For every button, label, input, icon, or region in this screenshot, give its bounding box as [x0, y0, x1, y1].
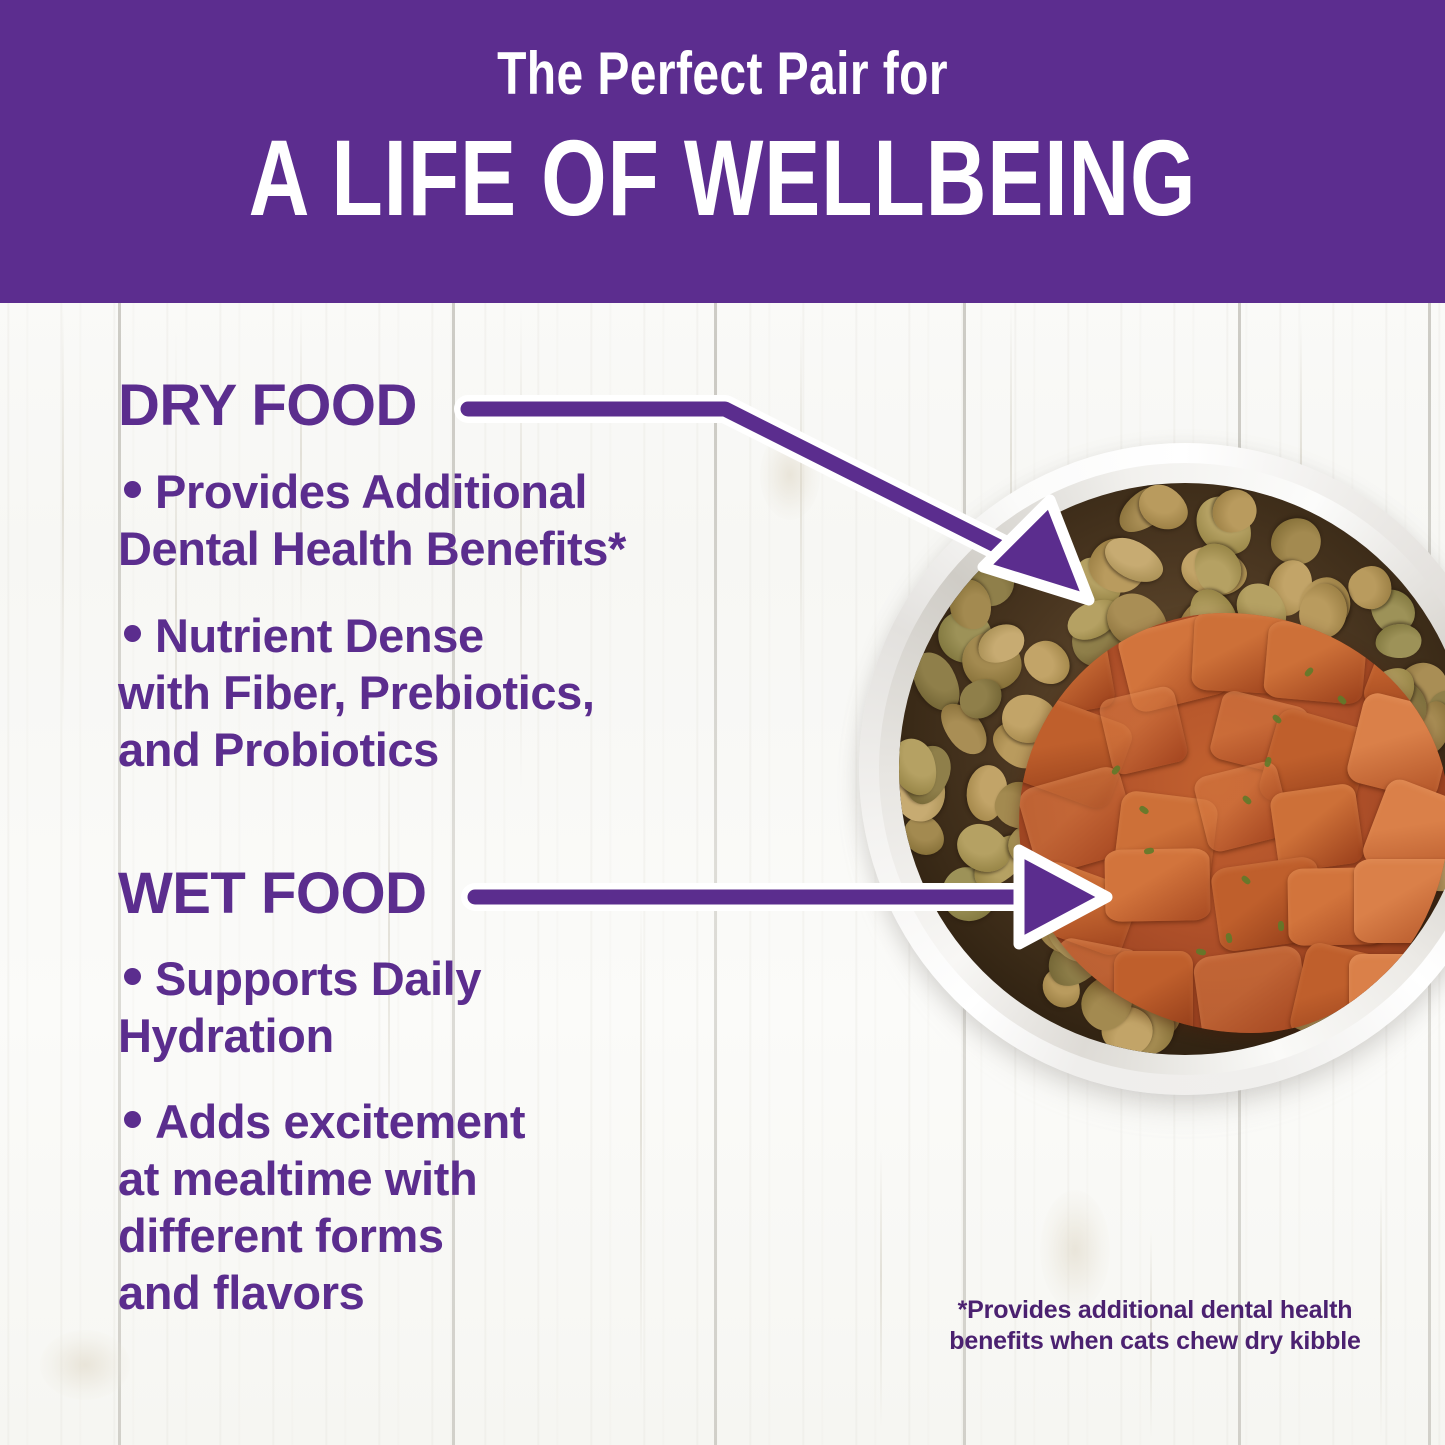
wet-food-chunk: [1114, 951, 1192, 1033]
dry-food-bullet-1: Provides Additional Dental Health Benefi…: [118, 463, 778, 577]
dry-food-bullet-1-line-1: Provides Additional: [155, 465, 587, 518]
perfect-pair-infographic: The Perfect Pair for A LIFE OF WELLBEING…: [0, 0, 1445, 1445]
wet-food-bullet-2: Adds excitement at mealtime with differe…: [118, 1093, 778, 1321]
herb-fleck: [1278, 921, 1285, 931]
wet-food-bullet-2-line-1: Adds excitement: [155, 1095, 525, 1148]
bullet-dot-icon: [124, 1111, 141, 1128]
kibble-piece: [1269, 515, 1323, 566]
wet-food-bullet-1-line-2: Hydration: [118, 1009, 334, 1062]
pet-food-bowl-image: [845, 425, 1445, 1265]
bullet-dot-icon: [124, 625, 141, 642]
dry-food-bullet-2-line-3: and Probiotics: [118, 723, 439, 776]
wet-food-chunk: [1263, 620, 1368, 705]
banner-title: A LIFE OF WELLBEING: [159, 124, 1286, 232]
wet-food-bullet-2-line-3: different forms: [118, 1209, 444, 1262]
wet-food-chunk: [1349, 954, 1428, 1031]
dry-food-bullet-2-line-1: Nutrient Dense: [155, 609, 484, 662]
wet-food-bullet-1-line-1: Supports Daily: [155, 952, 481, 1005]
herb-fleck: [1136, 623, 1146, 629]
footnote-line-1: *Provides additional dental health: [958, 1296, 1353, 1324]
wet-food-chunk: [1097, 685, 1189, 777]
bowl-interior: [899, 483, 1445, 1055]
dry-food-bullet-1-line-2: Dental Health Benefits*: [118, 522, 626, 575]
dry-food-bullet-2: Nutrient Dense with Fiber, Prebiotics, a…: [118, 607, 778, 778]
footnote-line-2: benefits when cats chew dry kibble: [949, 1327, 1360, 1355]
wet-food-bullet-1: Supports Daily Hydration: [118, 950, 778, 1064]
bullet-dot-icon: [124, 968, 141, 985]
wet-food-bullet-2-line-4: and flavors: [118, 1266, 364, 1319]
header-banner: The Perfect Pair for A LIFE OF WELLBEING: [0, 0, 1445, 303]
wet-food-bullet-2-line-2: at mealtime with: [118, 1152, 477, 1205]
section-heading-wet-food: WET FOOD: [118, 865, 427, 923]
dry-food-bullet-2-line-2: with Fiber, Prebiotics,: [118, 666, 595, 719]
section-heading-dry-food: DRY FOOD: [118, 377, 417, 435]
banner-subtitle: The Perfect Pair for: [145, 44, 1301, 104]
footnote: *Provides additional dental health benef…: [930, 1295, 1380, 1357]
herb-fleck: [1195, 948, 1206, 956]
bullet-dot-icon: [124, 481, 141, 498]
wet-food-chunk: [1354, 859, 1445, 943]
wet-food-chunk: [1104, 848, 1210, 922]
wet-food-chunks: [1019, 613, 1445, 1033]
